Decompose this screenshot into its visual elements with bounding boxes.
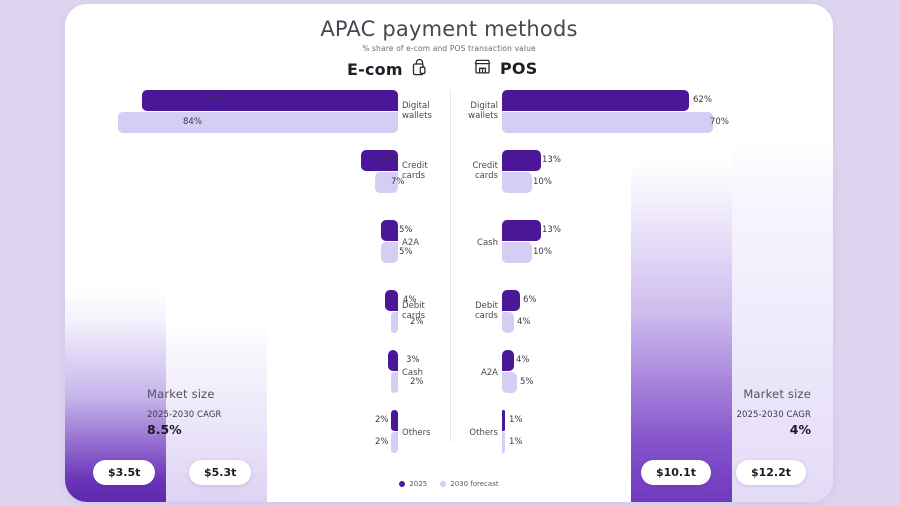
table-row: 1% 1% Others bbox=[65, 410, 833, 456]
bar-2025 bbox=[502, 150, 541, 171]
bar-2030 bbox=[502, 432, 505, 453]
heading-pos-label: POS bbox=[500, 59, 537, 78]
chart-area: 77% 84% Digitalwallets 11% 7% Creditcard… bbox=[65, 86, 833, 466]
bar-value-2030: 70% bbox=[710, 117, 729, 127]
legend-swatch-2030-icon bbox=[440, 481, 446, 487]
row-label: Debitcards bbox=[454, 301, 498, 321]
bar-value-2025: 13% bbox=[542, 225, 561, 235]
bar-value-2025: 6% bbox=[523, 295, 537, 305]
section-headings: E-com P bbox=[65, 59, 833, 83]
bar-value-2025: 4% bbox=[516, 355, 530, 365]
chart-legend: 2025 2030 forecast bbox=[65, 480, 833, 488]
table-row: 13% 10% Cash bbox=[65, 220, 833, 266]
bar-value-2030: 5% bbox=[520, 377, 534, 387]
table-row: 4% 5% A2A bbox=[65, 350, 833, 396]
bar-value-2025: 1% bbox=[509, 415, 523, 425]
storefront-icon bbox=[474, 59, 491, 78]
legend-swatch-2025-icon bbox=[399, 481, 405, 487]
bar-value-2030: 10% bbox=[533, 177, 552, 187]
legend-item-2030: 2030 forecast bbox=[440, 480, 498, 488]
row-label: Others bbox=[454, 428, 498, 438]
table-row: 13% 10% Creditcards bbox=[65, 150, 833, 196]
bar-2030 bbox=[502, 172, 532, 193]
bar-value-2030: 4% bbox=[517, 317, 531, 327]
page-subtitle: % share of e-com and POS transaction val… bbox=[65, 44, 833, 53]
legend-label-2025: 2025 bbox=[409, 480, 427, 488]
legend-label-2030: 2030 forecast bbox=[450, 480, 498, 488]
shopping-bag-icon bbox=[412, 59, 427, 80]
heading-ecom-label: E-com bbox=[347, 60, 403, 79]
bar-2025 bbox=[502, 290, 520, 311]
legend-item-2025: 2025 bbox=[399, 480, 427, 488]
row-label: Digitalwallets bbox=[454, 101, 498, 121]
heading-ecom: E-com bbox=[347, 59, 427, 80]
row-label: Creditcards bbox=[454, 161, 498, 181]
heading-pos: POS bbox=[474, 59, 537, 78]
bar-value-2030: 1% bbox=[509, 437, 523, 447]
bar-2030 bbox=[502, 312, 514, 333]
bar-2030 bbox=[502, 372, 517, 393]
bar-value-2025: 62% bbox=[693, 95, 712, 105]
bar-2025 bbox=[502, 90, 689, 111]
bar-2025 bbox=[502, 350, 514, 371]
bar-2030 bbox=[502, 242, 532, 263]
page-title: APAC payment methods bbox=[65, 17, 833, 41]
table-row: 62% 70% Digitalwallets bbox=[65, 90, 833, 136]
bar-2025 bbox=[502, 220, 541, 241]
bar-2030 bbox=[502, 112, 713, 133]
row-label: A2A bbox=[454, 368, 498, 378]
row-label: Cash bbox=[454, 238, 498, 248]
infographic-stage: Market size 2025-2030 CAGR 8.5% Market s… bbox=[0, 0, 900, 506]
table-row: 6% 4% Debitcards bbox=[65, 290, 833, 336]
bar-value-2030: 10% bbox=[533, 247, 552, 257]
bar-2025 bbox=[502, 410, 505, 431]
infographic-card: Market size 2025-2030 CAGR 8.5% Market s… bbox=[65, 4, 833, 502]
bar-value-2025: 13% bbox=[542, 155, 561, 165]
